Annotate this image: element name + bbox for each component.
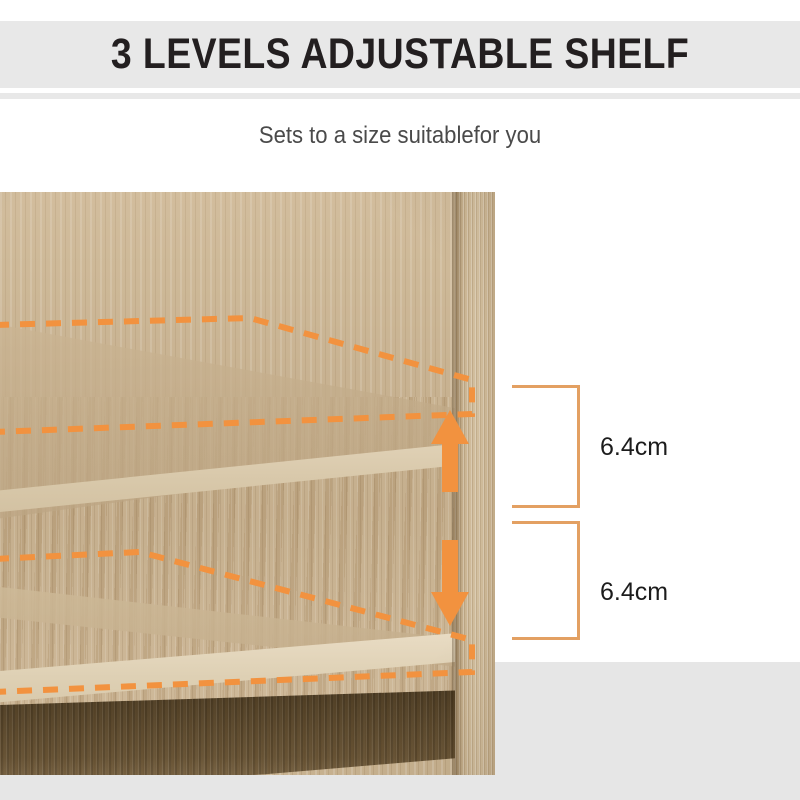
bracket-bottom-arm-upper xyxy=(512,505,580,508)
bracket-spine-lower xyxy=(577,521,580,640)
footer-band-right xyxy=(495,662,800,800)
product-infographic-page: 3 LEVELS ADJUSTABLE SHELF Sets to a size… xyxy=(0,0,800,800)
product-photo xyxy=(0,192,495,775)
shelf-adjust-arrows xyxy=(0,192,495,775)
dimension-label-lower: 6.4cm xyxy=(600,578,668,607)
measurement-bracket-upper xyxy=(512,385,580,508)
footer-band-bottom xyxy=(0,775,495,800)
arrow-down-icon xyxy=(431,540,469,626)
bracket-top-arm-lower xyxy=(512,521,580,524)
bracket-spine-upper xyxy=(577,385,580,508)
bracket-bottom-arm-lower xyxy=(512,637,580,640)
bracket-top-arm-upper xyxy=(512,385,580,388)
page-title: 3 LEVELS ADJUSTABLE SHELF xyxy=(52,21,748,88)
measurement-bracket-lower xyxy=(512,521,580,640)
arrow-up-icon xyxy=(431,410,469,492)
header-divider-rule xyxy=(0,93,800,99)
dimension-label-upper: 6.4cm xyxy=(600,433,668,462)
page-subtitle: Sets to a size suitablefor you xyxy=(32,122,768,150)
